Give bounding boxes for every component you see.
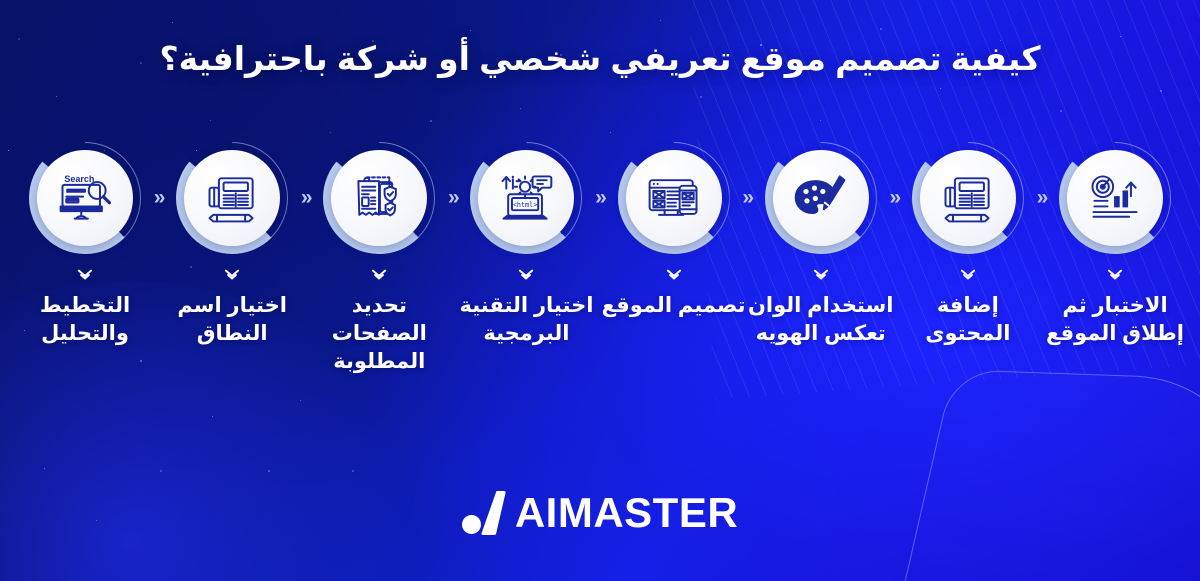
brand-logo: AIMASTER xyxy=(0,489,1200,537)
monitor-mobile-wireframe-icon xyxy=(626,150,722,246)
documents-pages-icon xyxy=(331,150,427,246)
step-separator-icon: « xyxy=(888,142,901,254)
aimaster-logo-mark-icon xyxy=(462,491,501,535)
chevron-down-icon xyxy=(221,266,243,284)
step-separator-icon: « xyxy=(299,142,312,254)
page-title: كيفية تصميم موقع تعريفي شخصي أو شركة باح… xyxy=(0,38,1200,79)
step-2[interactable]: إضافة المحتوى xyxy=(901,142,1035,348)
paint-palette-brush-icon xyxy=(773,150,869,246)
chevron-down-icon xyxy=(663,266,685,284)
step-separator-icon: « xyxy=(1035,142,1048,254)
step-label: اختيار اسم النطاق xyxy=(159,292,305,348)
chevron-down-icon xyxy=(368,266,390,284)
step-icon-badge[interactable] xyxy=(1059,142,1171,254)
newspaper-pencil-icon xyxy=(184,150,280,246)
step-icon-badge[interactable] xyxy=(912,142,1024,254)
chevron-down-icon xyxy=(74,266,96,284)
step-separator-icon: « xyxy=(741,142,754,254)
svg-text:<html>: <html> xyxy=(513,201,537,209)
monitor-search-magnifier-icon: Search xyxy=(37,150,133,246)
newspaper-pencil-icon xyxy=(920,150,1016,246)
chevron-down-icon xyxy=(1104,266,1126,284)
step-icon-badge[interactable] xyxy=(765,142,877,254)
step-3[interactable]: استخدام الوان تعكس الهويه xyxy=(754,142,888,348)
step-icon-badge[interactable] xyxy=(618,142,730,254)
step-5[interactable]: <html>اختيار التقنية البرمجية xyxy=(459,142,593,348)
step-label: التخطيط والتحليل xyxy=(12,292,158,348)
gauge-growth-chart-icon xyxy=(1067,150,1163,246)
step-separator-icon: « xyxy=(152,142,165,254)
step-6[interactable]: تحديد الصفحات المطلوبة xyxy=(312,142,446,376)
chevron-down-icon xyxy=(810,266,832,284)
svg-text:Search: Search xyxy=(64,174,94,184)
infographic-poster: كيفية تصميم موقع تعريفي شخصي أو شركة باح… xyxy=(0,0,1200,581)
step-label: الاختبار ثم إطلاق الموقع xyxy=(1042,292,1188,348)
steps-row: الاختبار ثم إطلاق الموقع«إضافة المحتوى«ا… xyxy=(0,142,1200,376)
step-icon-badge[interactable] xyxy=(176,142,288,254)
chevron-down-icon xyxy=(957,266,979,284)
step-label: تصميم الموقع xyxy=(601,292,747,320)
step-label: تحديد الصفحات المطلوبة xyxy=(306,292,452,376)
step-label: استخدام الوان تعكس الهويه xyxy=(748,292,894,348)
brand-name: AIMASTER xyxy=(515,489,738,537)
chevron-down-icon xyxy=(515,266,537,284)
step-label: اختيار التقنية البرمجية xyxy=(453,292,599,348)
bottom-right-outline-shape-decoration xyxy=(877,369,1200,581)
step-label: إضافة المحتوى xyxy=(895,292,1041,348)
step-separator-icon: « xyxy=(446,142,459,254)
laptop-html-gear-icon: <html> xyxy=(478,150,574,246)
step-8[interactable]: Searchالتخطيط والتحليل xyxy=(18,142,152,348)
step-icon-badge[interactable]: Search xyxy=(29,142,141,254)
step-icon-badge[interactable] xyxy=(323,142,435,254)
step-1[interactable]: الاختبار ثم إطلاق الموقع xyxy=(1048,142,1182,348)
step-separator-icon: « xyxy=(593,142,606,254)
step-7[interactable]: اختيار اسم النطاق xyxy=(165,142,299,348)
step-icon-badge[interactable]: <html> xyxy=(470,142,582,254)
step-4[interactable]: تصميم الموقع xyxy=(607,142,741,320)
